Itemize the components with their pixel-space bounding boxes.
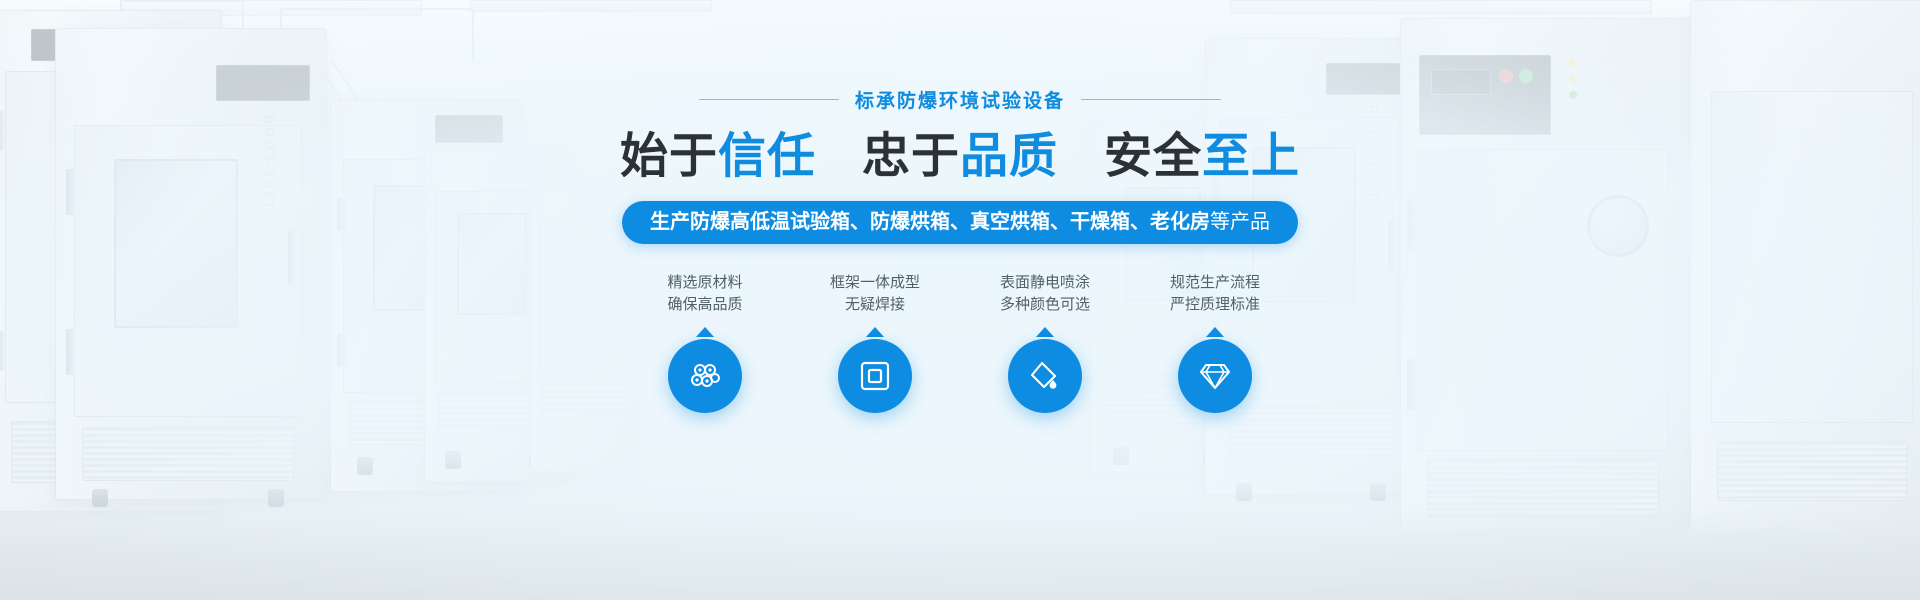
hero-banner: RGDJ-100T RGD-100 (0, 0, 1920, 600)
feature-text: 精选原材料 确保高品质 (667, 272, 742, 317)
feature-icon-circle[interactable] (838, 339, 912, 413)
pointer-triangle-icon (1206, 327, 1224, 337)
feature-text: 框架一体成型 无疑焊接 (830, 272, 920, 317)
feature-item-process[interactable]: 规范生产流程 严控质理标准 (1152, 272, 1278, 413)
diamond-icon (1197, 358, 1233, 394)
feature-icon-circle[interactable] (1178, 339, 1252, 413)
feature-line-2: 无疑焊接 (830, 294, 920, 317)
feature-icon-circle[interactable] (1008, 339, 1082, 413)
feature-line-2: 严控质理标准 (1170, 294, 1260, 317)
coils-icon (687, 358, 723, 394)
feature-line-1: 精选原材料 (667, 272, 742, 295)
banner-content: 标承防爆环境试验设备 始于信任 忠于品质 安全至上 生产防爆高低温试验箱、防爆烘… (0, 0, 1920, 600)
eyebrow-row: 标承防爆环境试验设备 (610, 86, 1310, 113)
eyebrow-rule-right (1081, 99, 1221, 100)
feature-item-coating[interactable]: 表面静电喷涂 多种颜色可选 (982, 272, 1108, 413)
feature-icon-circle[interactable] (668, 339, 742, 413)
feature-line-2: 多种颜色可选 (1000, 294, 1090, 317)
feature-row: 精选原材料 确保高品质 (610, 272, 1310, 413)
feature-item-materials[interactable]: 精选原材料 确保高品质 (642, 272, 768, 413)
pointer-triangle-icon (1036, 327, 1054, 337)
feature-text: 表面静电喷涂 多种颜色可选 (1000, 272, 1090, 317)
feature-line-1: 表面静电喷涂 (1000, 272, 1090, 295)
feature-line-1: 框架一体成型 (830, 272, 920, 295)
square-frame-icon (858, 359, 892, 393)
feature-text: 规范生产流程 严控质理标准 (1170, 272, 1260, 317)
eyebrow-text: 标承防爆环境试验设备 (855, 86, 1065, 113)
product-list-pill: 生产防爆高低温试验箱、防爆烘箱、真空烘箱、干燥箱、老化房等产品 (622, 201, 1298, 244)
pointer-triangle-icon (696, 327, 714, 337)
feature-item-frame[interactable]: 框架一体成型 无疑焊接 (812, 272, 938, 413)
pill-bold-text: 生产防爆高低温试验箱、防爆烘箱、真空烘箱、干燥箱、老化房 (650, 211, 1210, 233)
pill-tail-text: 等产品 (1210, 211, 1270, 233)
headline-phrase-2: 忠于品质 (862, 129, 1058, 185)
paint-drop-icon (1027, 358, 1063, 394)
pointer-triangle-icon (866, 327, 884, 337)
feature-line-2: 确保高品质 (667, 294, 742, 317)
headline-phrase-3: 安全至上 (1104, 129, 1300, 185)
headline-phrase-1: 始于信任 (620, 129, 816, 185)
eyebrow-rule-left (699, 99, 839, 100)
feature-line-1: 规范生产流程 (1170, 272, 1260, 295)
headline: 始于信任 忠于品质 安全至上 (610, 129, 1310, 185)
